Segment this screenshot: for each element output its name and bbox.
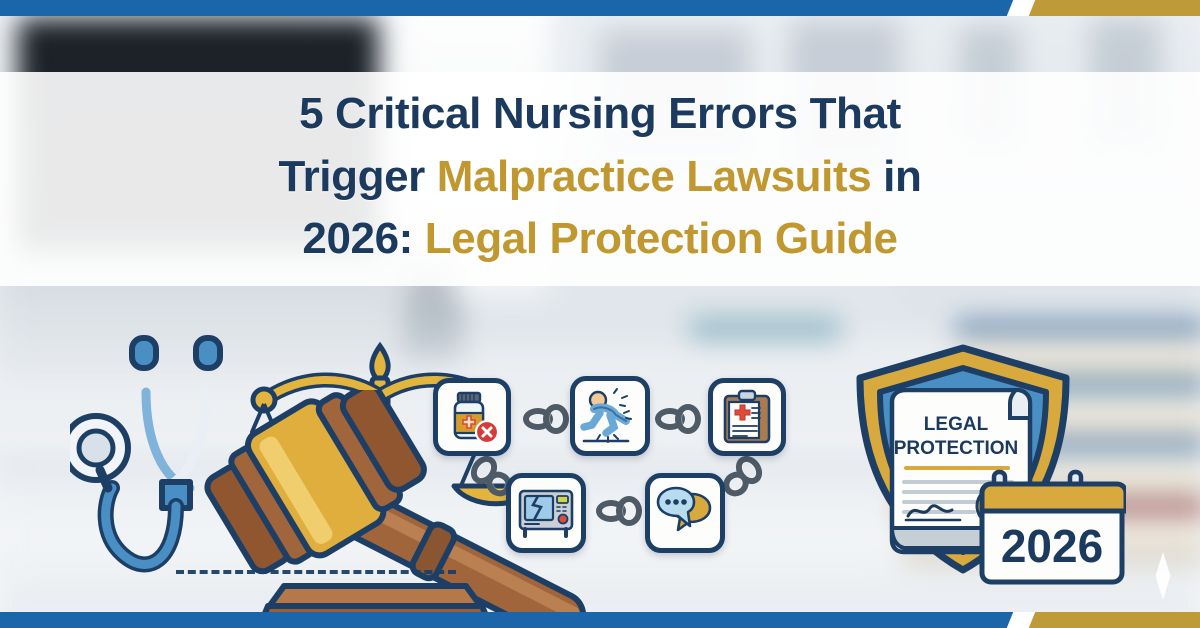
chain-link [543,404,569,434]
card-documentation-failure[interactable] [708,378,786,456]
title-segment-highlight: Legal Protection Guide [425,214,898,263]
pill-bottle-with-x-icon [443,388,501,446]
bottom-bar-blue-segment [0,612,1020,628]
bottom-accent-bar [0,612,1200,628]
card-medication-error[interactable] [433,378,511,456]
title-band: 5 Critical Nursing Errors That Trigger M… [0,72,1200,286]
chain-link [675,404,701,434]
calendar-year-label: 2026 [1001,520,1103,572]
bottom-bar-gold-segment [1020,612,1200,628]
certificate-title-line-1: LEGAL [924,414,989,435]
title-line-2: Trigger Malpractice Lawsuits in [279,146,922,208]
card-patient-fall[interactable] [570,376,650,456]
title-segment: in [871,152,921,201]
year-calendar: 2026 [978,468,1126,586]
broken-monitor-icon [516,485,576,541]
card-equipment-failure[interactable] [506,473,586,553]
title-segment-highlight: Malpractice Lawsuits [437,152,872,201]
person-falling-icon [580,387,640,445]
title-segment: 5 Critical Nursing Errors That [299,89,901,138]
title-line-3: 2026: Legal Protection Guide [302,208,897,270]
certificate-title-line-2: PROTECTION [894,438,1019,459]
medical-clipboard-icon [719,388,775,446]
speech-bubbles-icon [656,486,714,540]
corner-watermark [1146,552,1180,600]
title-segment: 2026: [302,214,424,263]
card-communication-breakdown[interactable] [645,473,725,553]
chain-link [616,496,642,526]
desk-underline [176,570,456,574]
title-segment: Trigger [279,152,437,201]
banner-root: LEGAL PROTECTION 2026 5 Critical Nursing… [0,0,1200,628]
title-line-1: 5 Critical Nursing Errors That [299,83,901,145]
